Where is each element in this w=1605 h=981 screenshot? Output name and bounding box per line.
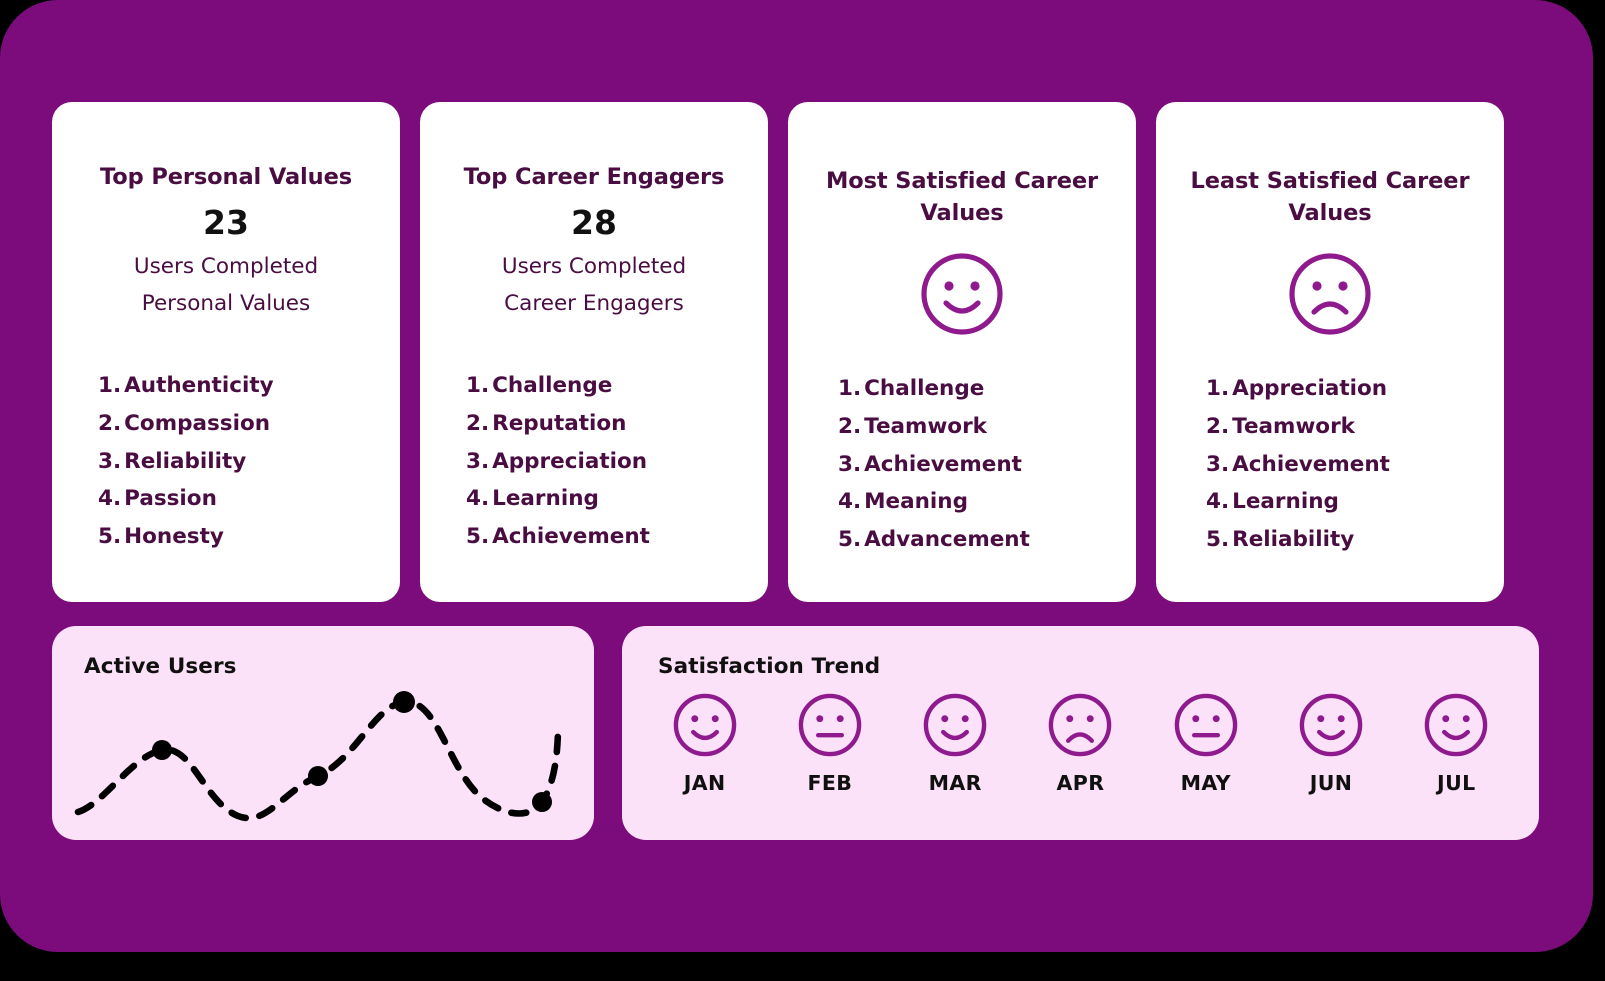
card-ranked-list: 1.Challenge 2.Reputation 3.Appreciation …: [466, 367, 650, 556]
list-item-label: Appreciation: [1232, 376, 1387, 401]
card-top-personal-values[interactable]: Top Personal Values 23 Users Completed P…: [52, 102, 400, 602]
list-item-rank: 1.: [98, 373, 121, 398]
sparkline-point: [393, 691, 415, 713]
happy-face-icon: [922, 692, 988, 762]
sparkline-point: [308, 766, 328, 786]
card-subtitle: Users Completed Personal Values: [134, 249, 318, 323]
list-item[interactable]: 2.Reputation: [466, 405, 650, 443]
list-item[interactable]: 3.Appreciation: [466, 443, 650, 481]
list-item[interactable]: 3.Achievement: [838, 446, 1030, 484]
list-item-label: Achievement: [1232, 452, 1390, 477]
list-item-label: Teamwork: [1232, 414, 1355, 439]
month-jan[interactable]: JAN: [650, 692, 760, 795]
happy-face-icon: [1298, 692, 1364, 762]
list-item-rank: 2.: [838, 414, 861, 439]
list-item-rank: 2.: [98, 411, 121, 436]
card-ranked-list: 1.Challenge 2.Teamwork 3.Achievement 4.M…: [838, 370, 1030, 559]
list-item-label: Learning: [1232, 489, 1339, 514]
list-item[interactable]: 5.Reliability: [1206, 521, 1390, 559]
list-item-label: Appreciation: [492, 449, 647, 474]
list-item-rank: 3.: [1206, 452, 1229, 477]
month-label: JAN: [684, 771, 726, 795]
card-title: Least Satisfied Career Values: [1174, 166, 1486, 230]
list-item-rank: 2.: [1206, 414, 1229, 439]
card-least-satisfied-career-values[interactable]: Least Satisfied Career Values 1.Apprecia…: [1156, 102, 1504, 602]
list-item-rank: 5.: [98, 524, 121, 549]
list-item-rank: 3.: [466, 449, 489, 474]
list-item[interactable]: 5.Honesty: [98, 518, 274, 556]
happy-face-icon: [920, 252, 1004, 336]
list-item-label: Reliability: [1232, 527, 1354, 552]
neutral-face-icon: [797, 692, 863, 762]
month-jul[interactable]: JUL: [1401, 692, 1511, 795]
month-feb[interactable]: FEB: [775, 692, 885, 795]
summary-card-row: Top Personal Values 23 Users Completed P…: [52, 102, 1504, 602]
panel-title: Active Users: [84, 654, 237, 679]
satisfaction-month-list: JAN FEB: [642, 692, 1519, 795]
list-item-label: Meaning: [864, 489, 968, 514]
bottom-panel-row: Active Users Satisfaction Trend: [52, 626, 1539, 840]
list-item[interactable]: 3.Achievement: [1206, 446, 1390, 484]
list-item[interactable]: 1.Appreciation: [1206, 370, 1390, 408]
sparkline-point: [152, 740, 172, 760]
list-item-rank: 5.: [838, 527, 861, 552]
card-subtitle-line-2: Personal Values: [134, 286, 318, 323]
month-label: MAR: [929, 771, 982, 795]
card-subtitle-line-1: Users Completed: [134, 249, 318, 286]
card-top-career-engagers[interactable]: Top Career Engagers 28 Users Completed C…: [420, 102, 768, 602]
list-item[interactable]: 3.Reliability: [98, 443, 274, 481]
list-item-label: Challenge: [492, 373, 612, 398]
list-item-rank: 3.: [98, 449, 121, 474]
list-item-rank: 1.: [1206, 376, 1229, 401]
list-item-label: Learning: [492, 486, 599, 511]
month-label: JUL: [1437, 771, 1476, 795]
list-item-label: Advancement: [864, 527, 1030, 552]
list-item-rank: 4.: [1206, 489, 1229, 514]
card-title: Top Career Engagers: [464, 162, 725, 194]
sparkline-point: [532, 792, 552, 812]
panel-satisfaction-trend[interactable]: Satisfaction Trend JAN: [622, 626, 1539, 840]
list-item-label: Honesty: [124, 524, 224, 549]
list-item[interactable]: 4.Meaning: [838, 483, 1030, 521]
list-item-rank: 5.: [1206, 527, 1229, 552]
list-item-rank: 4.: [466, 486, 489, 511]
card-count: 23: [203, 206, 249, 239]
list-item-label: Achievement: [864, 452, 1022, 477]
list-item-label: Reputation: [492, 411, 626, 436]
list-item[interactable]: 1.Challenge: [838, 370, 1030, 408]
dashboard-screen: Top Personal Values 23 Users Completed P…: [0, 0, 1593, 952]
card-count: 28: [571, 206, 617, 239]
card-subtitle-line-1: Users Completed: [502, 249, 686, 286]
list-item-rank: 1.: [838, 376, 861, 401]
list-item[interactable]: 5.Advancement: [838, 521, 1030, 559]
month-mar[interactable]: MAR: [900, 692, 1010, 795]
card-ranked-list: 1.Authenticity 2.Compassion 3.Reliabilit…: [98, 367, 274, 556]
card-title: Most Satisfied Career Values: [806, 166, 1118, 230]
list-item-label: Passion: [124, 486, 217, 511]
list-item-rank: 4.: [98, 486, 121, 511]
list-item-label: Authenticity: [124, 373, 273, 398]
list-item-rank: 2.: [466, 411, 489, 436]
list-item[interactable]: 1.Authenticity: [98, 367, 274, 405]
sad-face-icon: [1288, 252, 1372, 336]
panel-active-users[interactable]: Active Users: [52, 626, 594, 840]
active-users-sparkline: [70, 684, 580, 824]
list-item[interactable]: 5.Achievement: [466, 518, 650, 556]
list-item[interactable]: 4.Learning: [1206, 483, 1390, 521]
card-subtitle-line-2: Career Engagers: [502, 286, 686, 323]
list-item[interactable]: 2.Teamwork: [838, 408, 1030, 446]
list-item-label: Challenge: [864, 376, 984, 401]
list-item[interactable]: 1.Challenge: [466, 367, 650, 405]
list-item-rank: 5.: [466, 524, 489, 549]
list-item-label: Teamwork: [864, 414, 987, 439]
list-item-label: Compassion: [124, 411, 270, 436]
list-item[interactable]: 4.Passion: [98, 480, 274, 518]
month-label: FEB: [808, 771, 853, 795]
month-jun[interactable]: JUN: [1276, 692, 1386, 795]
sad-face-icon: [1047, 692, 1113, 762]
list-item-label: Achievement: [492, 524, 650, 549]
happy-face-icon: [672, 692, 738, 762]
neutral-face-icon: [1173, 692, 1239, 762]
list-item[interactable]: 2.Teamwork: [1206, 408, 1390, 446]
card-most-satisfied-career-values[interactable]: Most Satisfied Career Values 1.Challenge…: [788, 102, 1136, 602]
list-item-rank: 4.: [838, 489, 861, 514]
list-item-label: Reliability: [124, 449, 246, 474]
month-may[interactable]: MAY: [1151, 692, 1261, 795]
panel-title: Satisfaction Trend: [658, 654, 880, 679]
list-item-rank: 1.: [466, 373, 489, 398]
list-item[interactable]: 4.Learning: [466, 480, 650, 518]
month-label: JUN: [1310, 771, 1353, 795]
list-item-rank: 3.: [838, 452, 861, 477]
card-title: Top Personal Values: [100, 162, 352, 194]
month-label: MAY: [1181, 771, 1231, 795]
list-item[interactable]: 2.Compassion: [98, 405, 274, 443]
month-label: APR: [1057, 771, 1105, 795]
month-apr[interactable]: APR: [1025, 692, 1135, 795]
card-subtitle: Users Completed Career Engagers: [502, 249, 686, 323]
card-ranked-list: 1.Appreciation 2.Teamwork 3.Achievement …: [1206, 370, 1390, 559]
happy-face-icon: [1423, 692, 1489, 762]
